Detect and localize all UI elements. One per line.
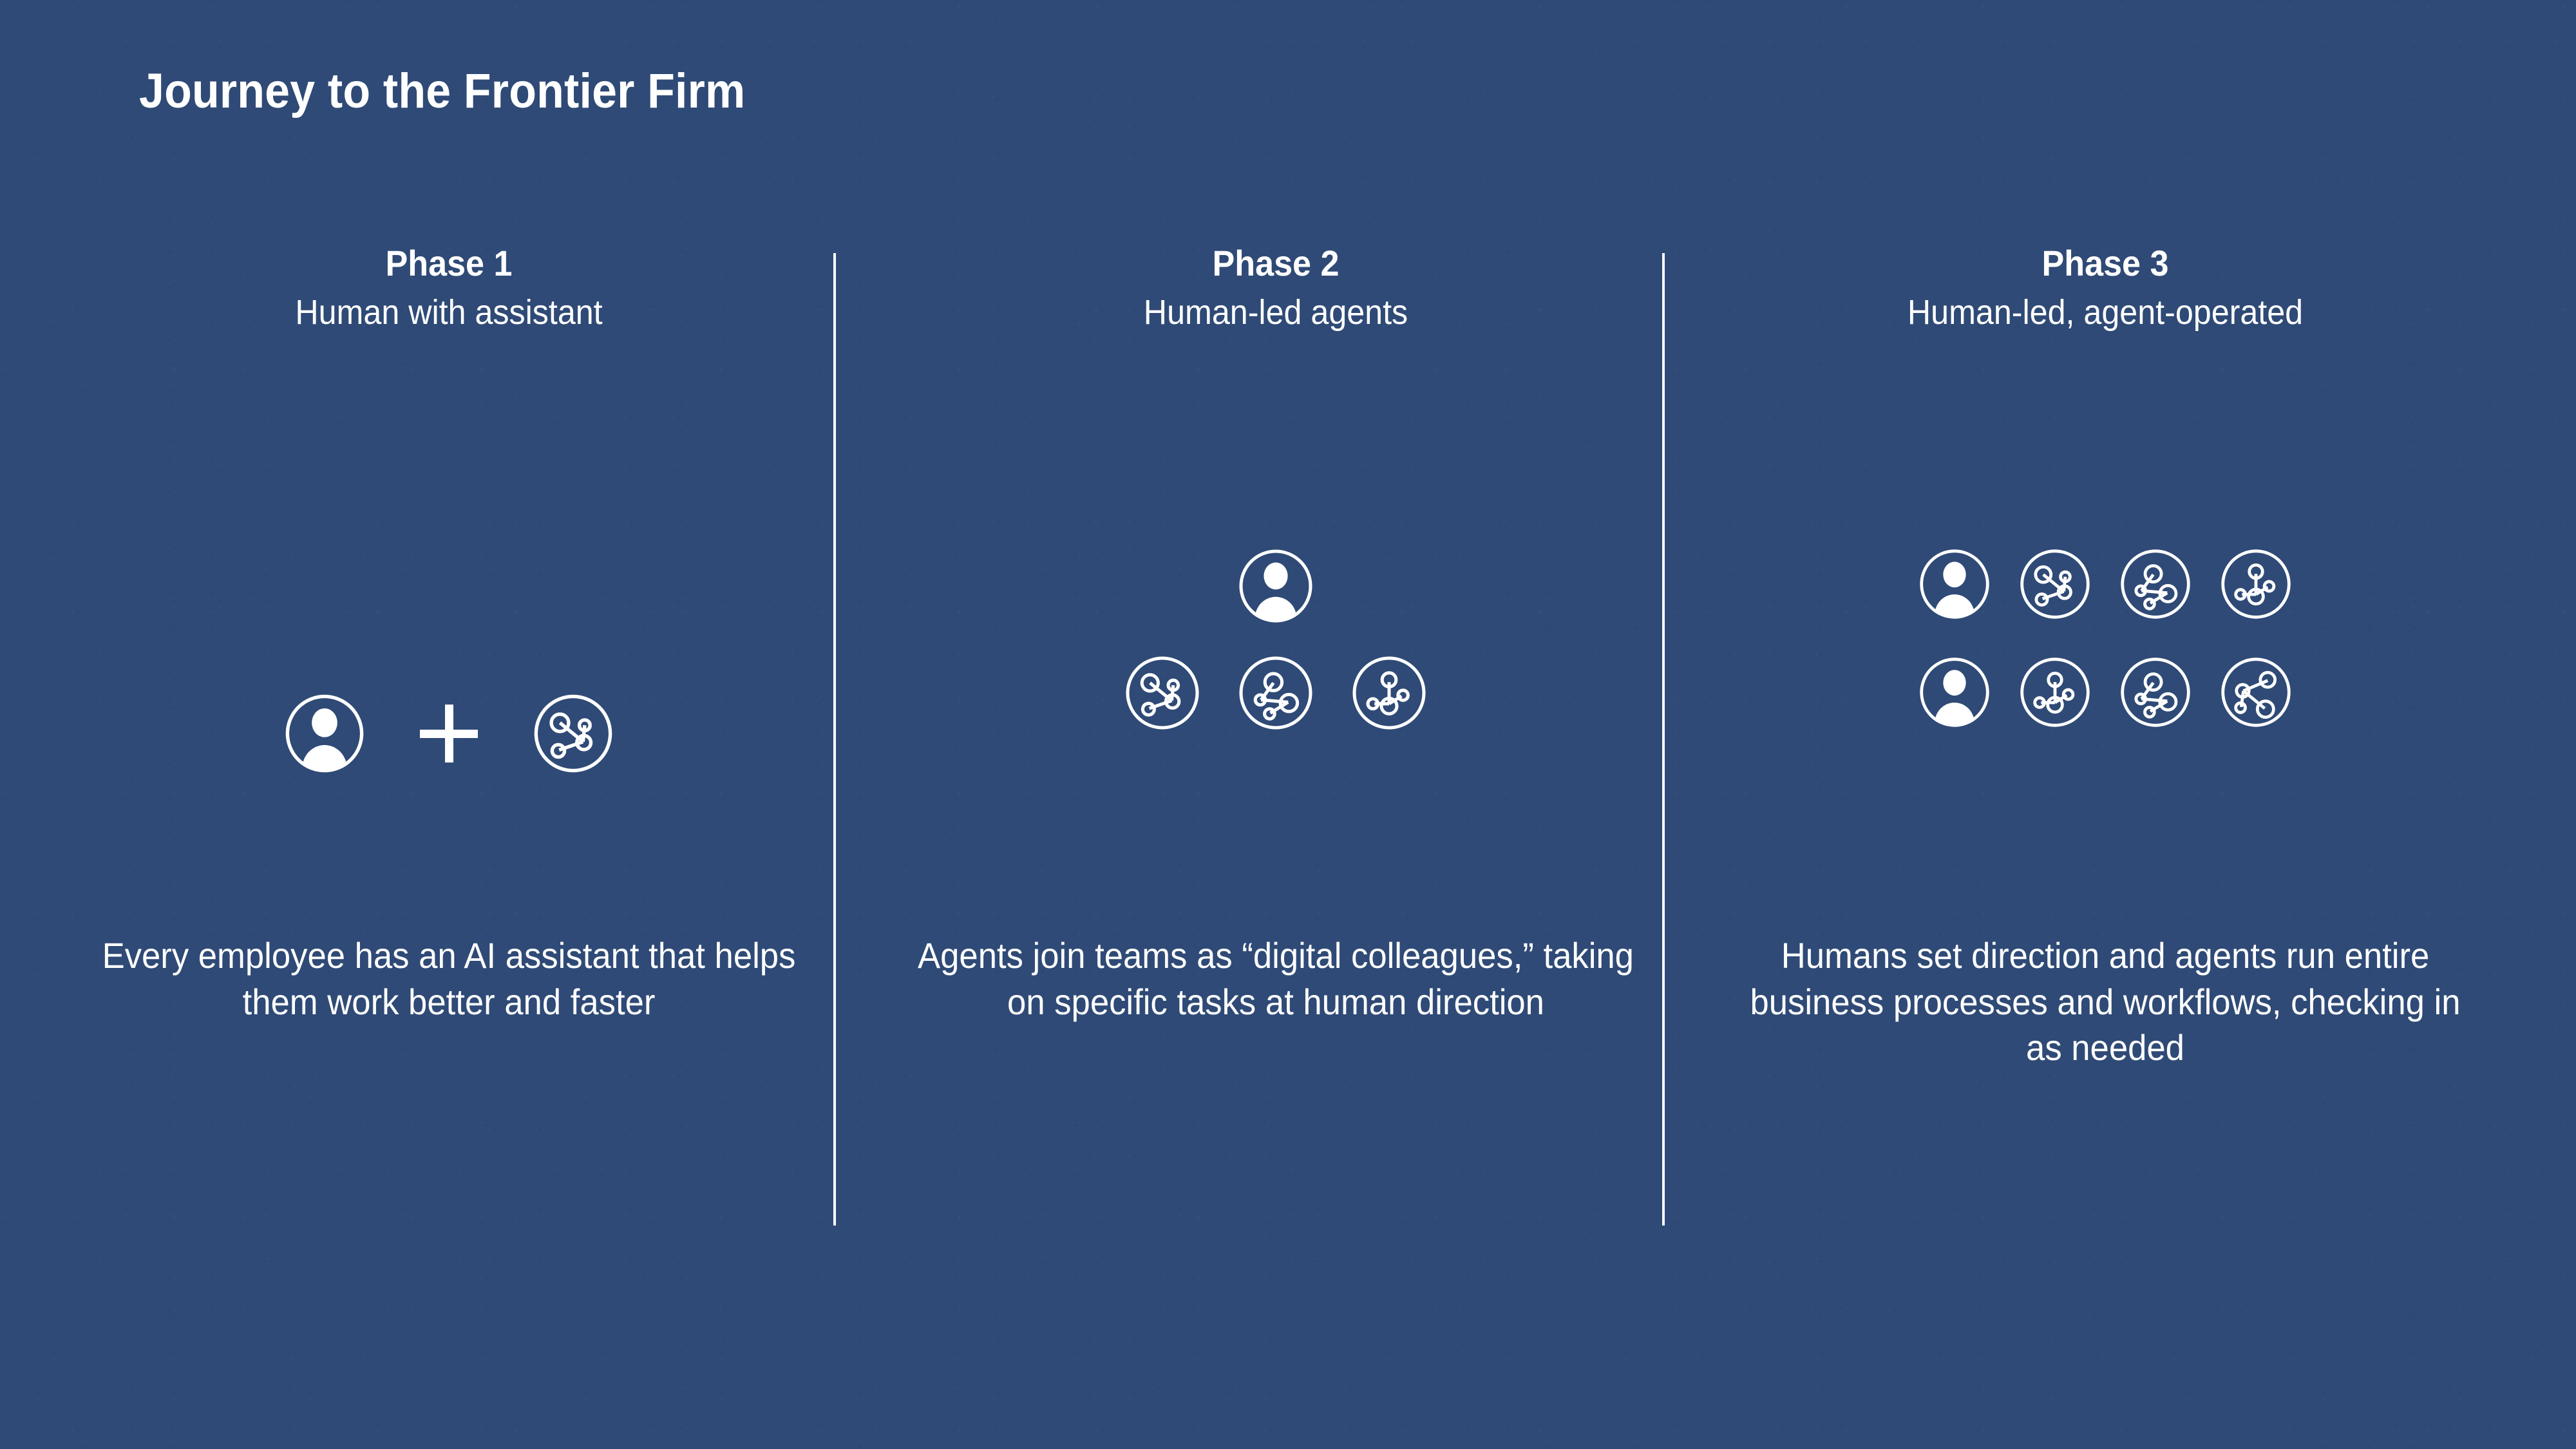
phase-1-icon-cluster xyxy=(53,692,845,775)
phase-2-header: Phase 2 Human-led agents xyxy=(880,245,1672,330)
phase-1-header: Phase 1 Human with assistant xyxy=(53,245,845,330)
agent-network-icon xyxy=(2018,547,2092,621)
phase-2-description: Agents join teams as “digital colleagues… xyxy=(904,933,1648,1025)
agent-network-icon xyxy=(2219,547,2293,621)
phase-1-subtitle: Human with assistant xyxy=(80,294,817,331)
person-icon xyxy=(283,692,366,775)
agent-network-icon xyxy=(532,692,614,775)
phase-3-title: Phase 3 xyxy=(1737,245,2474,283)
agent-network-icon xyxy=(1124,654,1201,732)
phase-2-subtitle: Human-led agents xyxy=(907,294,1644,331)
phase-3-subtitle: Human-led, agent-operated xyxy=(1737,294,2474,331)
agent-network-icon xyxy=(2018,656,2092,729)
column-divider-2 xyxy=(1662,253,1665,1226)
phase-3-header: Phase 3 Human-led, agent-operated xyxy=(1709,245,2501,330)
person-icon xyxy=(1918,547,1991,621)
phase-1-description: Every employee has an AI assistant that … xyxy=(77,933,821,1025)
phase-2-icon-cluster xyxy=(880,547,1672,732)
phase-2-title: Phase 2 xyxy=(907,245,1644,283)
phase-3-icon-row xyxy=(1709,656,2501,729)
phase-3-icon-row xyxy=(1709,547,2501,621)
slide-canvas: Journey to the Frontier Firm Phase 1 Hum… xyxy=(0,0,2576,1449)
person-icon xyxy=(1918,656,1991,729)
agent-network-icon xyxy=(2119,547,2192,621)
phase-3-description: Humans set direction and agents run enti… xyxy=(1733,933,2477,1071)
phase-1-title: Phase 1 xyxy=(80,245,817,283)
phase-2-agent-row xyxy=(880,654,1672,732)
agent-network-icon xyxy=(1350,654,1428,732)
phase-3-icon-cluster xyxy=(1709,547,2501,729)
agent-network-icon xyxy=(1237,654,1314,732)
page-title: Journey to the Frontier Firm xyxy=(139,67,745,116)
person-icon xyxy=(1237,547,1314,625)
phase-2-lead-row xyxy=(880,547,1672,625)
plus-icon xyxy=(420,705,478,762)
agent-network-icon xyxy=(2119,656,2192,729)
agent-network-icon xyxy=(2219,656,2293,729)
